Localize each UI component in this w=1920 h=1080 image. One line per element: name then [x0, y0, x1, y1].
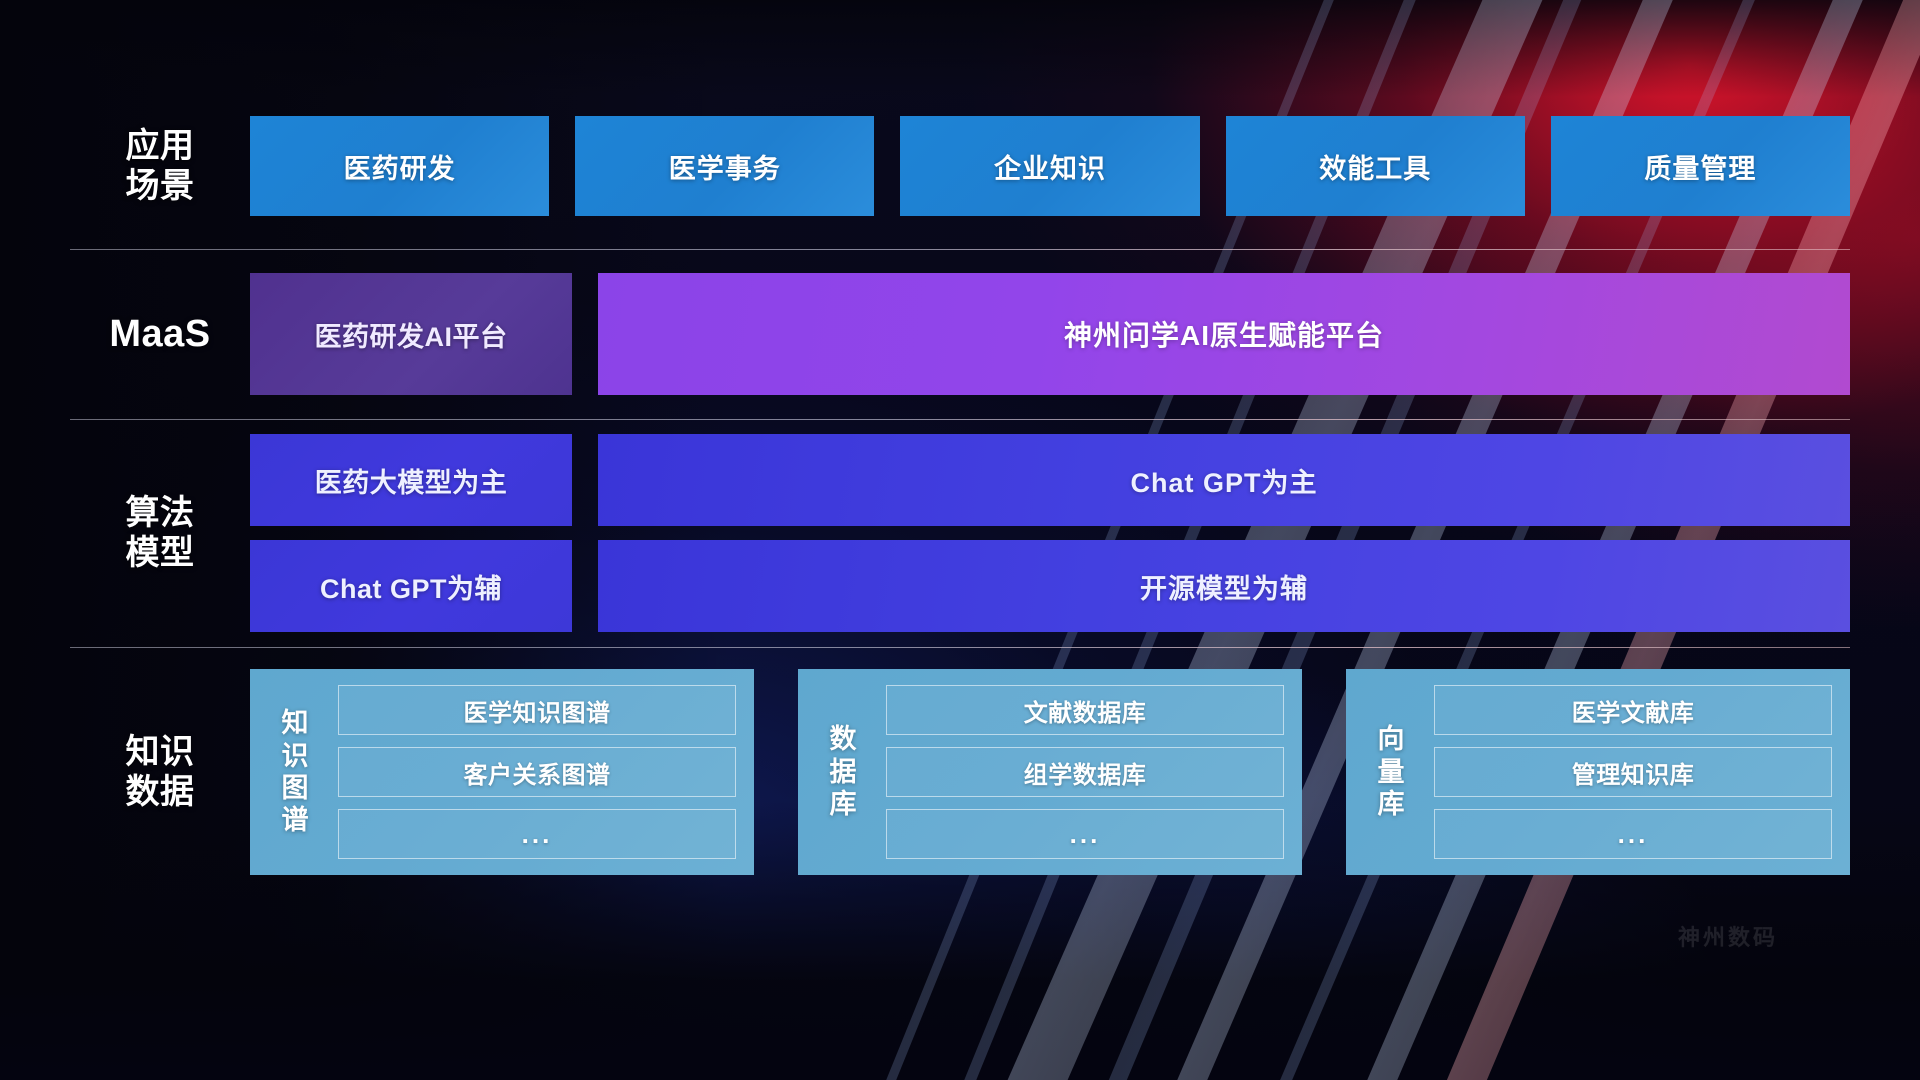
- maas-card-medicine-ai-platform[interactable]: 医药研发AI平台: [250, 273, 572, 395]
- vlabel-char: 库: [1378, 788, 1405, 820]
- divider-2: [70, 419, 1850, 420]
- knowledge-item-list: 医学文献库 管理知识库 ...: [1434, 685, 1832, 859]
- knowledge-item-customer-relation-graph[interactable]: 客户关系图谱: [338, 747, 736, 797]
- knowledge-group-vector-store[interactable]: 向 量 库 医学文献库 管理知识库 ...: [1346, 669, 1850, 875]
- row-application-scenarios: 应用 场景 医药研发 医学事务 企业知识 效能工具 质量管理: [70, 86, 1850, 246]
- row-label-algorithm-models: 算法 模型: [70, 493, 250, 573]
- knowledge-item-more[interactable]: ...: [886, 809, 1284, 859]
- vlabel-char: 库: [830, 788, 857, 820]
- vlabel-char: 数: [830, 723, 857, 755]
- vlabel-char: 据: [830, 756, 857, 788]
- knowledge-item-medical-literature-store[interactable]: 医学文献库: [1434, 685, 1832, 735]
- algorithm-row-secondary: Chat GPT为辅 开源模型为辅: [250, 540, 1850, 632]
- knowledge-group-label-vector-store: 向 量 库: [1364, 685, 1418, 859]
- algo-card-opensource-secondary[interactable]: 开源模型为辅: [598, 540, 1850, 632]
- vlabel-char: 谱: [282, 804, 309, 836]
- knowledge-item-management-knowledge-store[interactable]: 管理知识库: [1434, 747, 1832, 797]
- knowledge-item-medical-knowledge-graph[interactable]: 医学知识图谱: [338, 685, 736, 735]
- vlabel-char: 量: [1378, 756, 1405, 788]
- scene-card-quality-management[interactable]: 质量管理: [1551, 116, 1850, 216]
- algo-card-chatgpt-primary[interactable]: Chat GPT为主: [598, 434, 1850, 526]
- slide-canvas: 应用 场景 医药研发 医学事务 企业知识 效能工具 质量管理 MaaS 医药研发…: [0, 0, 1920, 1080]
- divider-3: [70, 647, 1850, 648]
- vlabel-char: 向: [1378, 723, 1405, 755]
- row-label-knowledge-data: 知识 数据: [70, 732, 250, 812]
- knowledge-group-database[interactable]: 数 据 库 文献数据库 组学数据库 ...: [798, 669, 1302, 875]
- maas-card-shenzhou-wenxue-platform[interactable]: 神州问学AI原生赋能平台: [598, 273, 1850, 395]
- scene-card-enterprise-knowledge[interactable]: 企业知识: [900, 116, 1199, 216]
- vlabel-char: 知: [282, 707, 309, 739]
- divider-1: [70, 249, 1850, 250]
- knowledge-item-omics-database[interactable]: 组学数据库: [886, 747, 1284, 797]
- row-knowledge-data: 知识 数据 知 识 图 谱 医学知识图谱 客户关系图谱: [70, 652, 1850, 892]
- scene-card-medical-affairs[interactable]: 医学事务: [575, 116, 874, 216]
- knowledge-item-list: 文献数据库 组学数据库 ...: [886, 685, 1284, 859]
- knowledge-group-label-database: 数 据 库: [816, 685, 870, 859]
- maas-cards: 医药研发AI平台 神州问学AI原生赋能平台: [250, 252, 1850, 416]
- knowledge-item-more[interactable]: ...: [1434, 809, 1832, 859]
- scene-card-medicine-rd[interactable]: 医药研发: [250, 116, 549, 216]
- algorithm-row-primary: 医药大模型为主 Chat GPT为主: [250, 434, 1850, 526]
- application-scenario-cards: 医药研发 医学事务 企业知识 效能工具 质量管理: [250, 86, 1850, 246]
- row-label-maas: MaaS: [70, 312, 250, 357]
- row-maas: MaaS 医药研发AI平台 神州问学AI原生赋能平台: [70, 252, 1850, 416]
- algo-card-chatgpt-secondary[interactable]: Chat GPT为辅: [250, 540, 572, 632]
- vlabel-char: 识: [282, 740, 309, 772]
- knowledge-item-list: 医学知识图谱 客户关系图谱 ...: [338, 685, 736, 859]
- knowledge-group-label-knowledge-graph: 知 识 图 谱: [268, 685, 322, 859]
- scene-card-efficiency-tools[interactable]: 效能工具: [1226, 116, 1525, 216]
- knowledge-item-literature-database[interactable]: 文献数据库: [886, 685, 1284, 735]
- knowledge-data-groups: 知 识 图 谱 医学知识图谱 客户关系图谱 ...: [250, 652, 1850, 892]
- architecture-grid: 应用 场景 医药研发 医学事务 企业知识 效能工具 质量管理 MaaS 医药研发…: [70, 86, 1850, 976]
- row-algorithm-models: 算法 模型 医药大模型为主 Chat GPT为主 Chat GPT为辅 开源模型…: [70, 422, 1850, 644]
- vlabel-char: 图: [282, 772, 309, 804]
- algo-card-pharma-llm-primary[interactable]: 医药大模型为主: [250, 434, 572, 526]
- row-label-application-scenarios: 应用 场景: [70, 126, 250, 206]
- knowledge-group-knowledge-graph[interactable]: 知 识 图 谱 医学知识图谱 客户关系图谱 ...: [250, 669, 754, 875]
- algorithm-model-cards: 医药大模型为主 Chat GPT为主 Chat GPT为辅 开源模型为辅: [250, 422, 1850, 644]
- knowledge-item-more[interactable]: ...: [338, 809, 736, 859]
